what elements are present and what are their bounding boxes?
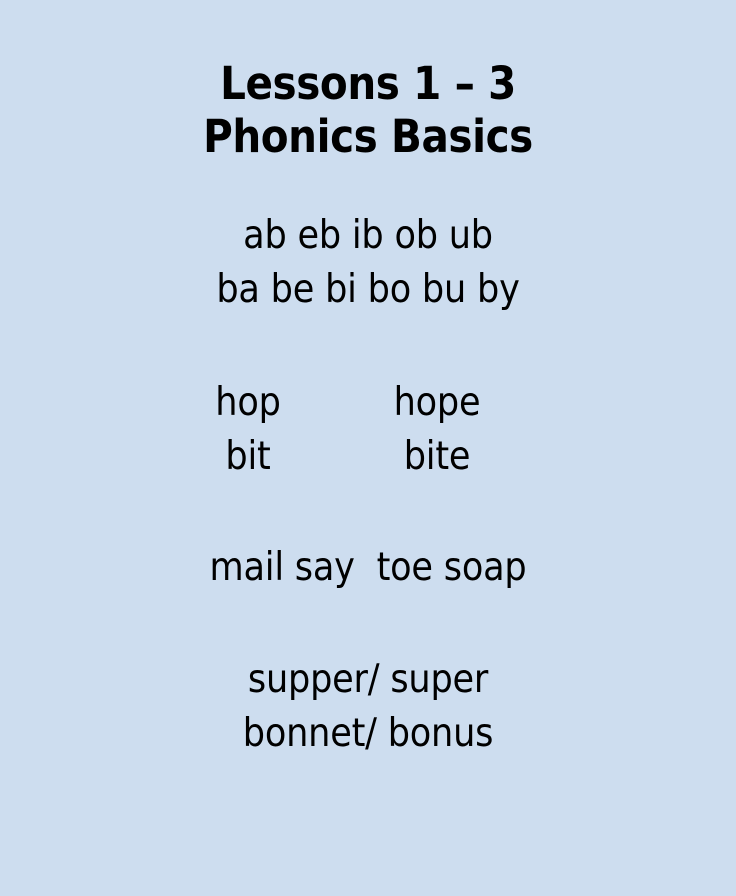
- page-title: Lessons 1 – 3 Phonics Basics: [0, 57, 736, 163]
- vowel-pair-long-word: hope: [337, 376, 537, 430]
- vowel-pair-long-word: bite: [337, 430, 537, 484]
- title-line-lessons-range: Lessons 1 – 3: [0, 57, 736, 110]
- vowel-pair-row: hop hope: [0, 376, 736, 430]
- syllable-line-vowel-b: ab eb ib ob ub: [0, 209, 736, 263]
- syllable-division-line-bonnet: bonnet/ bonus: [0, 707, 736, 761]
- vowel-pair-short-word: bit: [148, 430, 348, 484]
- vowel-pair-row: bit bite: [0, 430, 736, 484]
- syllable-division-line-supper: supper/ super: [0, 653, 736, 707]
- vowel-pairs-section: hop hope bit bite: [0, 376, 736, 484]
- vowel-teams-line: mail say toe soap: [0, 541, 736, 595]
- syllable-line-b-vowel: ba be bi bo bu by: [0, 263, 736, 317]
- vowel-pair-short-word: hop: [148, 376, 348, 430]
- title-line-subject: Phonics Basics: [0, 110, 736, 163]
- syllable-division-section: supper/ super bonnet/ bonus: [0, 653, 736, 761]
- syllable-drill-section: ab eb ib ob ub ba be bi bo bu by: [0, 209, 736, 317]
- phonics-slide: Lessons 1 – 3 Phonics Basics ab eb ib ob…: [0, 0, 736, 896]
- vowel-teams-section: mail say toe soap: [0, 541, 736, 595]
